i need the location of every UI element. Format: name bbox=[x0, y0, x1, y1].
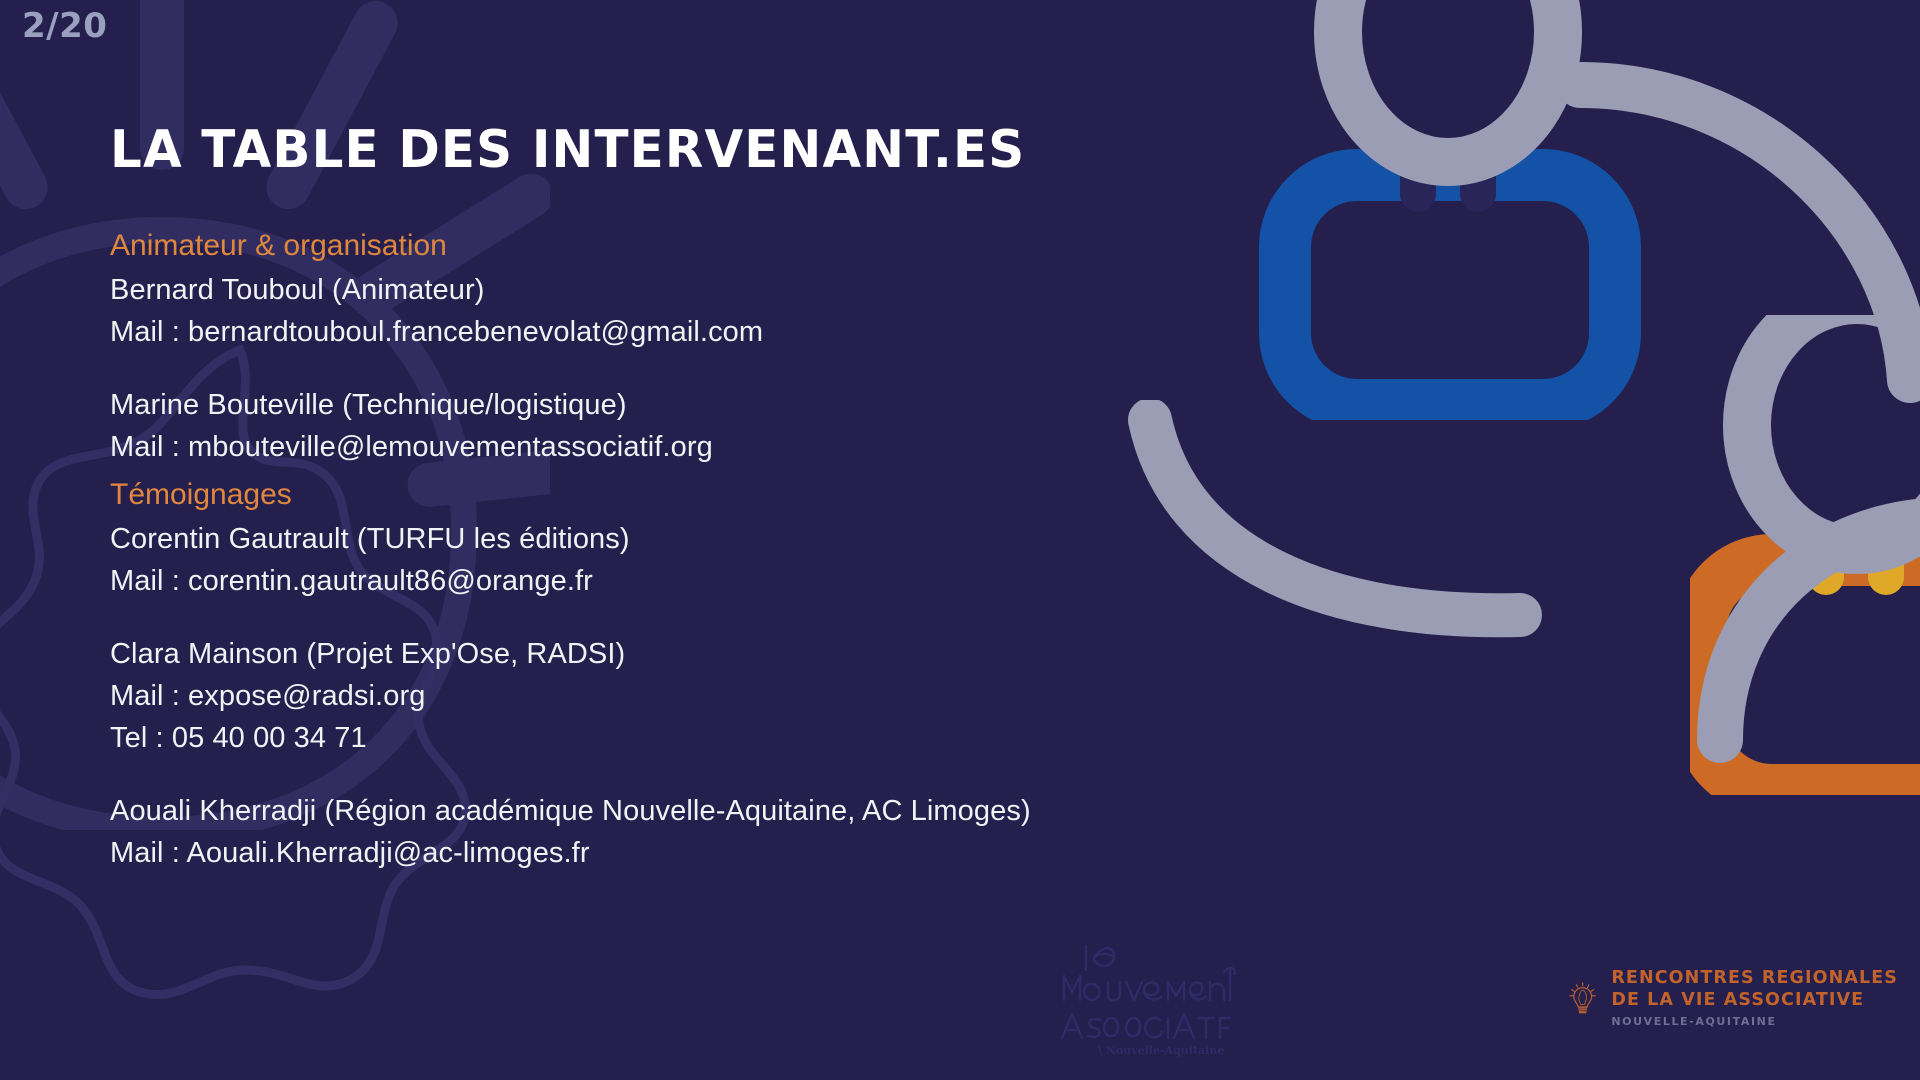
contact-name: Bernard Touboul (Animateur) bbox=[110, 269, 1360, 311]
section-temoignages: Témoignages Corentin Gautrault (TURFU le… bbox=[110, 474, 1360, 874]
rencontres-regionales-logo: RENCONTRES REGIONALES DE LA VIE ASSOCIAT… bbox=[1568, 938, 1898, 1060]
contact-name: Aouali Kherradji (Région académique Nouv… bbox=[110, 790, 1360, 832]
contact-block: Bernard Touboul (Animateur) Mail : berna… bbox=[110, 269, 1360, 353]
contact-mail: Mail : corentin.gautrault86@orange.fr bbox=[110, 560, 1360, 602]
contact-mail: Mail : mbouteville@lemouvementassociatif… bbox=[110, 426, 1360, 468]
contact-name: Marine Bouteville (Technique/logistique) bbox=[110, 384, 1360, 426]
page-title: LA TABLE DES INTERVENANT.ES bbox=[110, 123, 1025, 178]
contact-name: Corentin Gautrault (TURFU les éditions) bbox=[110, 518, 1360, 560]
contact-block: Clara Mainson (Projet Exp'Ose, RADSI) Ma… bbox=[110, 633, 1360, 759]
page-indicator: 2/20 bbox=[22, 6, 107, 46]
contact-name: Clara Mainson (Projet Exp'Ose, RADSI) bbox=[110, 633, 1360, 675]
contact-block: Marine Bouteville (Technique/logistique)… bbox=[110, 384, 1360, 468]
le-mouvement-associatif-logo: \ Nouvelle-Aquitaine bbox=[1048, 940, 1248, 1060]
rencontres-title-line1: RENCONTRES REGIONALES bbox=[1611, 967, 1898, 989]
lightbulb-icon bbox=[1568, 944, 1597, 1054]
contact-mail: Mail : expose@radsi.org bbox=[110, 675, 1360, 717]
person-icon-orange bbox=[1690, 315, 1920, 795]
intervenants-list: Animateur & organisation Bernard Touboul… bbox=[110, 225, 1360, 880]
slide-root: 2/20 LA TABLE DES INTERVENANT.ES Animate… bbox=[0, 0, 1920, 1080]
rencontres-text-block: RENCONTRES REGIONALES DE LA VIE ASSOCIAT… bbox=[1611, 967, 1898, 1031]
contact-tel: Tel : 05 40 00 34 71 bbox=[110, 717, 1360, 759]
section-heading: Témoignages bbox=[110, 474, 1360, 516]
section-animateur-organisation: Animateur & organisation Bernard Touboul… bbox=[110, 225, 1360, 468]
contact-block: Corentin Gautrault (TURFU les éditions) … bbox=[110, 518, 1360, 602]
contact-mail: Mail : Aouali.Kherradji@ac-limoges.fr bbox=[110, 832, 1360, 874]
rencontres-title-line2: DE LA VIE ASSOCIATIVE bbox=[1611, 989, 1898, 1011]
contact-mail: Mail : bernardtouboul.francebenevolat@gm… bbox=[110, 311, 1360, 353]
contact-block: Aouali Kherradji (Région académique Nouv… bbox=[110, 790, 1360, 874]
arc-decoration-bottom bbox=[1680, 480, 1920, 780]
mouvement-associatif-mark: \ Nouvelle-Aquitaine bbox=[1048, 940, 1248, 1060]
section-heading: Animateur & organisation bbox=[110, 225, 1360, 267]
rencontres-subtitle: NOUVELLE-AQUITAINE bbox=[1611, 1013, 1898, 1031]
mouvement-subtitle: \ Nouvelle-Aquitaine bbox=[1098, 1044, 1224, 1057]
arc-decoration-top bbox=[1560, 40, 1920, 420]
